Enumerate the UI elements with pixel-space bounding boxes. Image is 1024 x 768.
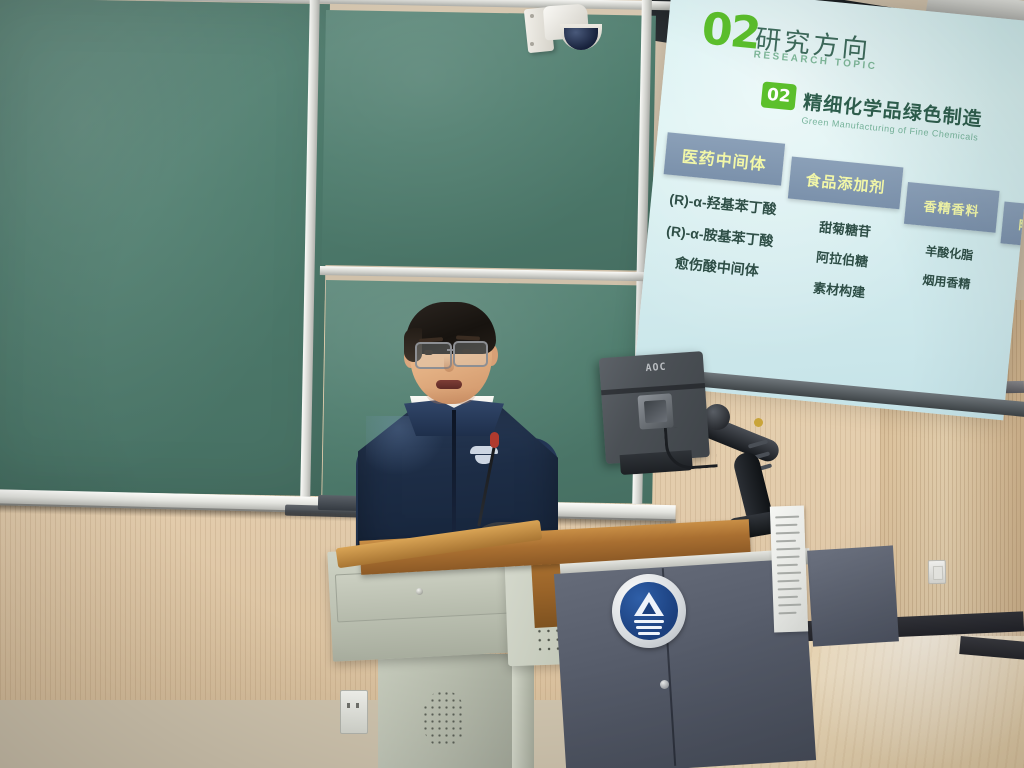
chalkboard-panel-left [0, 0, 330, 496]
wall-notice-sign [770, 505, 808, 632]
notice-text-line [776, 548, 800, 551]
emblem-wave-icon [634, 620, 664, 623]
notice-text-line [778, 596, 798, 599]
slide-item: 愈伤酸中间体 [656, 253, 777, 282]
cabinet-right-body [807, 545, 899, 646]
wall-switch-rocker[interactable] [933, 566, 943, 580]
outlet-slot [356, 703, 359, 708]
eyeglasses-bridge [447, 349, 455, 351]
slide-column-0: (R)-α-羟基苯丁酸 (R)-α-胺基苯丁酸 愈伤酸中间体 [655, 190, 784, 296]
slide-item: 素材构建 [785, 277, 894, 304]
lectern-lower-speaker-grille [422, 690, 466, 748]
camera-screw [530, 14, 534, 18]
eyeglasses-lens-right [453, 341, 488, 367]
slide-subsection-badge: 02 [761, 81, 797, 110]
speaker-nose [444, 356, 454, 372]
notice-text-line [775, 524, 797, 527]
av-cabinet-right [810, 548, 900, 648]
lectern-column-edge [512, 652, 534, 768]
notice-text-line [777, 572, 801, 575]
wall-switch[interactable] [928, 560, 946, 584]
slide-column-1: 甜菊糖苷 阿拉伯糖 素材构建 [783, 217, 899, 318]
emblem-wave-icon [636, 626, 662, 629]
wall-outlet-plate[interactable] [340, 690, 368, 734]
notice-text-line [777, 580, 799, 583]
dome-camera-icon [524, 2, 608, 58]
lecture-hall-photo: 02 研究方向 RESEARCH TOPIC 02 精细化学品绿色制造 Gree… [0, 0, 1024, 768]
slide-item: (R)-α-胺基苯丁酸 [659, 222, 780, 251]
speaker-chin-shadow [424, 388, 478, 404]
microphone-capsule [490, 432, 499, 448]
notice-text-line [777, 556, 800, 559]
emblem-wave-icon [638, 632, 660, 635]
slide-section-number: 02 [699, 3, 761, 59]
slide-column-2: 羊酸化脂 烟用香精 [898, 242, 995, 309]
monitor-brand-logo: AOC [645, 362, 667, 374]
notice-text-line [776, 532, 800, 535]
slide-item: 阿拉伯糖 [788, 247, 897, 274]
monitor-vesa-inner [644, 400, 667, 423]
notice-text-line [777, 564, 798, 567]
notice-text-line [779, 612, 797, 615]
notice-text-line [778, 604, 801, 607]
camera-screw [530, 42, 534, 46]
lectern-drawer-lock[interactable] [416, 588, 423, 595]
notice-text-line [775, 516, 799, 519]
slide-item: 烟用香精 [900, 271, 993, 295]
outlet-slot [347, 703, 350, 708]
cabinet-lock[interactable] [660, 680, 669, 689]
notice-text-line [778, 588, 802, 591]
slide-category-header-3: 陶瓷/水 [1000, 201, 1024, 250]
monitor-arm-tension-dial[interactable] [754, 418, 763, 427]
notice-text-line [776, 540, 796, 543]
emblem-triangle-inner [642, 602, 656, 614]
computer-monitor[interactable]: AOC [599, 351, 718, 490]
slide-category-header-2: 香精香料 [904, 182, 1000, 233]
